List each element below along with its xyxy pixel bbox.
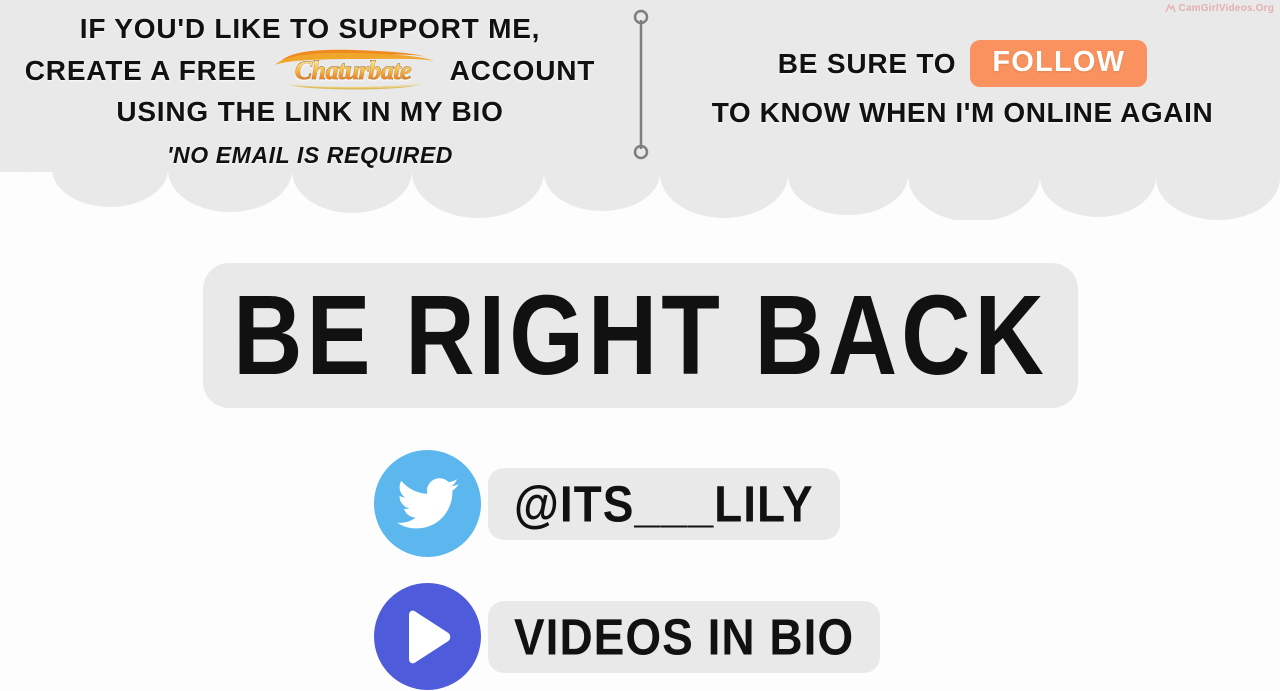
follow-row-top: BE SURE TO FOLLOW <box>660 40 1265 87</box>
twitter-handle-label: @ITS___LILY <box>514 478 814 529</box>
no-email-note: 'NO EMAIL IS REQUIRED <box>0 142 620 169</box>
support-line-2: CREATE A FREE <box>0 49 620 91</box>
support-line-3: USING THE LINK IN MY BIO <box>0 91 620 132</box>
chaturbate-logo-icon[interactable]: Chaturbate <box>266 49 441 91</box>
cloud-banner: IF YOU'D LIKE TO SUPPORT ME, CREATE A FR… <box>0 0 1280 215</box>
social-row-videos[interactable]: VIDEOS IN BIO <box>374 583 880 690</box>
status-banner: BE RIGHT BACK <box>203 263 1078 408</box>
site-watermark: CamGirlVideos.Org <box>1165 3 1274 14</box>
support-line-1: IF YOU'D LIKE TO SUPPORT ME, <box>0 8 620 49</box>
support-line-2-suffix: ACCOUNT <box>450 50 596 91</box>
social-row-twitter[interactable]: @ITS___LILY <box>374 450 840 557</box>
page-title: BE RIGHT BACK <box>233 279 1048 392</box>
screen-root: IF YOU'D LIKE TO SUPPORT ME, CREATE A FR… <box>0 0 1280 691</box>
cam-logo-icon <box>1165 3 1176 14</box>
follow-line-1-prefix: BE SURE TO <box>778 48 957 80</box>
watermark-text: CamGirlVideos.Org <box>1179 3 1274 14</box>
twitter-handle-pill[interactable]: @ITS___LILY <box>488 468 840 540</box>
twitter-bird-icon[interactable] <box>374 450 481 557</box>
follow-button[interactable]: FOLLOW <box>970 40 1147 87</box>
support-message-block: IF YOU'D LIKE TO SUPPORT ME, CREATE A FR… <box>0 8 620 169</box>
cloud-content: IF YOU'D LIKE TO SUPPORT ME, CREATE A FR… <box>0 0 1280 172</box>
svg-text:Chaturbate: Chaturbate <box>294 56 410 85</box>
videos-pill[interactable]: VIDEOS IN BIO <box>488 601 880 673</box>
follow-line-2: TO KNOW WHEN I'M ONLINE AGAIN <box>660 97 1265 129</box>
videos-label: VIDEOS IN BIO <box>514 611 854 662</box>
support-line-2-prefix: CREATE A FREE <box>25 50 257 91</box>
follow-message-block: BE SURE TO FOLLOW TO KNOW WHEN I'M ONLIN… <box>660 40 1265 129</box>
vertical-dumbbell-divider-icon <box>632 8 650 160</box>
play-circle-icon[interactable] <box>374 583 481 690</box>
